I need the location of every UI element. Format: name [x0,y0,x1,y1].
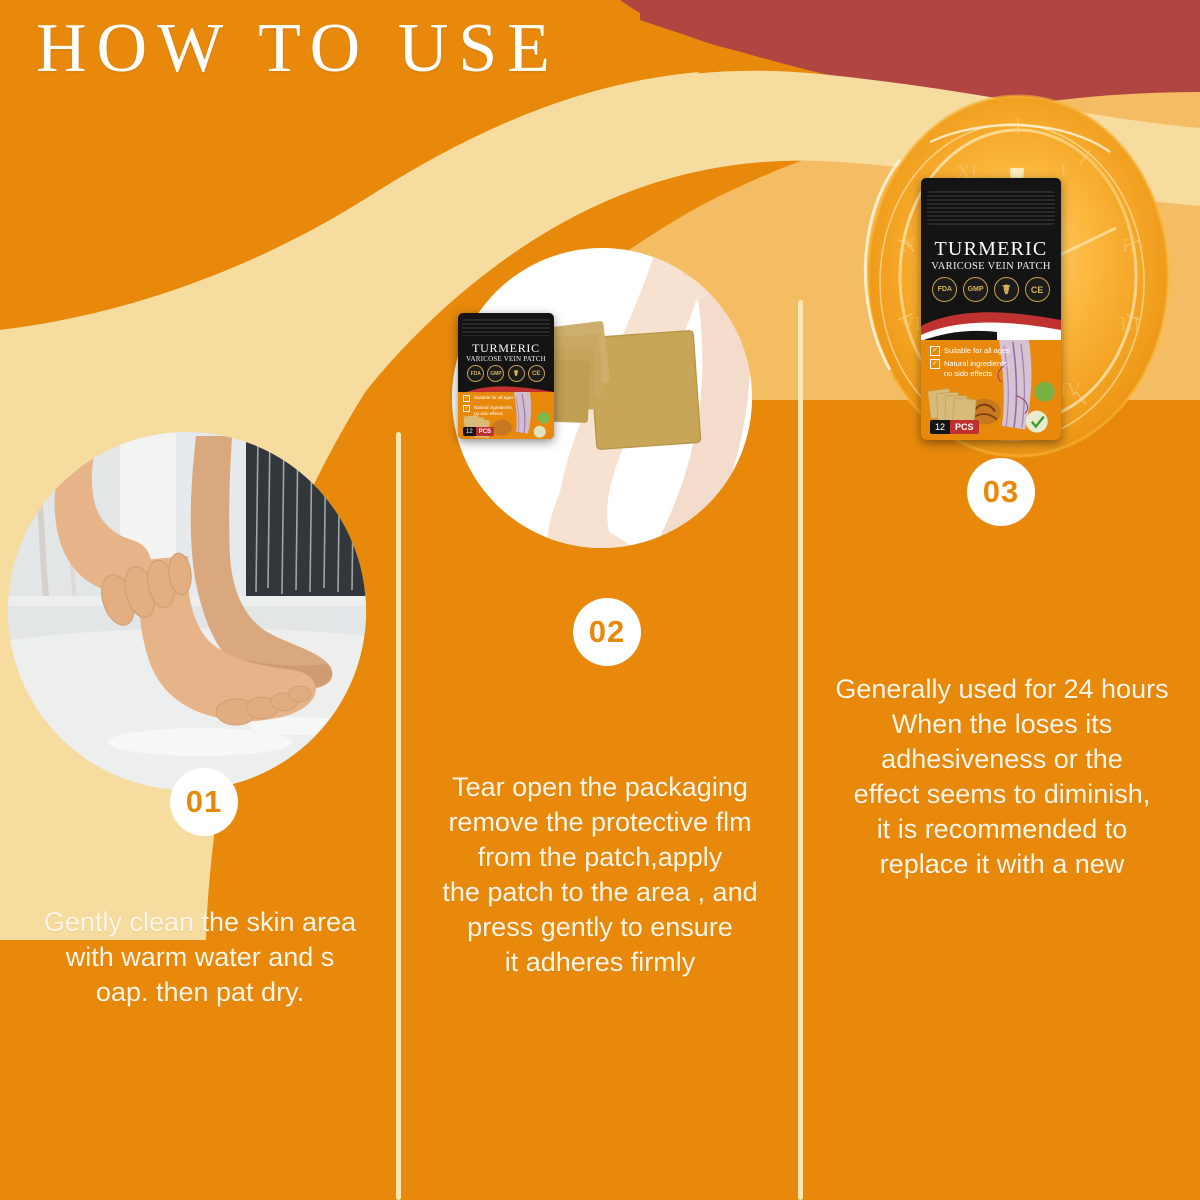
step-number-badge-03: 03 [967,458,1035,526]
package-count-large: 12 PCS [930,420,979,434]
caduceus-badge: ☤ [508,365,525,382]
package-subtitle-large: VARICOSE VEIN PATCH [921,261,1061,272]
svg-text:III: III [1120,313,1140,335]
checkbox-icon: ✓ [930,346,940,356]
feature-label: Suitable for all ages [474,395,514,400]
svg-text:VI: VI [900,313,921,335]
column-divider-1 [396,432,401,1200]
fda-badge: FDA [932,277,957,302]
column-divider-2 [798,300,803,1200]
package-brand-small: TURMERIC [458,341,554,356]
package-zip-seal [462,319,550,335]
package-count-unit: PCS [950,420,979,434]
fda-badge: FDA [467,365,484,382]
package-lower-panel-small: ✓ Suitable for all ages ✓ Natural ingred… [458,392,554,439]
package-certifications-large: FDA GMP ☤ CE [929,278,1052,302]
feature-item: ✓ Suitable for all ages [930,346,1010,356]
poster-canvas: I II III IV V VI X XI [0,0,1200,1200]
package-count-number: 12 [463,427,476,436]
checkbox-icon: ✓ [463,395,470,402]
step-caption-03: Generally used for 24 hours When the los… [806,672,1198,883]
gmp-badge: GMP [487,365,504,382]
step-number-badge-02: 02 [573,598,641,666]
package-features-large: ✓ Suitable for all ages ✓ Natural ingred… [930,346,1010,381]
feature-label: Suitable for all ages [944,346,1010,355]
feature-item: ✓ Suitable for all ages [463,395,514,402]
ce-badge: CE [528,365,545,382]
step-caption-02: Tear open the packaging remove the prote… [404,770,796,981]
feature-label: Natural ingredients, no sido effects [474,405,513,416]
package-subtitle-small: VARICOSE VEIN PATCH [458,355,554,363]
package-count-unit: PCS [476,427,494,436]
checkbox-icon: ✓ [463,405,470,412]
package-lower-panel-large: ✓ Suitable for all ages ✓ Natural ingred… [921,340,1061,440]
caduceus-badge: ☤ [994,277,1019,302]
step-number-badge-01: 01 [170,768,238,836]
package-certifications-small: FDA GMP ☤ CE [466,366,547,382]
gmp-badge: GMP [963,277,988,302]
page-title: HOW TO USE [36,14,560,84]
feature-item: ✓ Natural ingredients, no sido effects [930,359,1010,378]
step-01-photo [8,432,366,790]
package-zip-seal [927,191,1056,225]
package-features-small: ✓ Suitable for all ages ✓ Natural ingred… [463,395,514,419]
checkbox-icon: ✓ [930,359,940,369]
product-package-small: TURMERIC VARICOSE VEIN PATCH FDA GMP ☤ C… [458,313,554,439]
package-count-number: 12 [930,420,950,434]
svg-text:II: II [1122,235,1135,257]
step-caption-01: Gently clean the skin area with warm wat… [6,905,394,1010]
feature-label: Natural ingredients, no sido effects [944,359,1009,378]
svg-text:X: X [902,235,917,257]
svg-text:IV: IV [1060,379,1082,401]
package-count-small: 12 PCS [463,427,494,436]
svg-text:I: I [1060,159,1067,181]
package-brand-large: TURMERIC [921,238,1061,261]
ce-badge: CE [1025,277,1050,302]
feature-item: ✓ Natural ingredients, no sido effects [463,405,514,416]
product-package-large: TURMERIC VARICOSE VEIN PATCH FDA GMP ☤ C… [921,178,1061,440]
